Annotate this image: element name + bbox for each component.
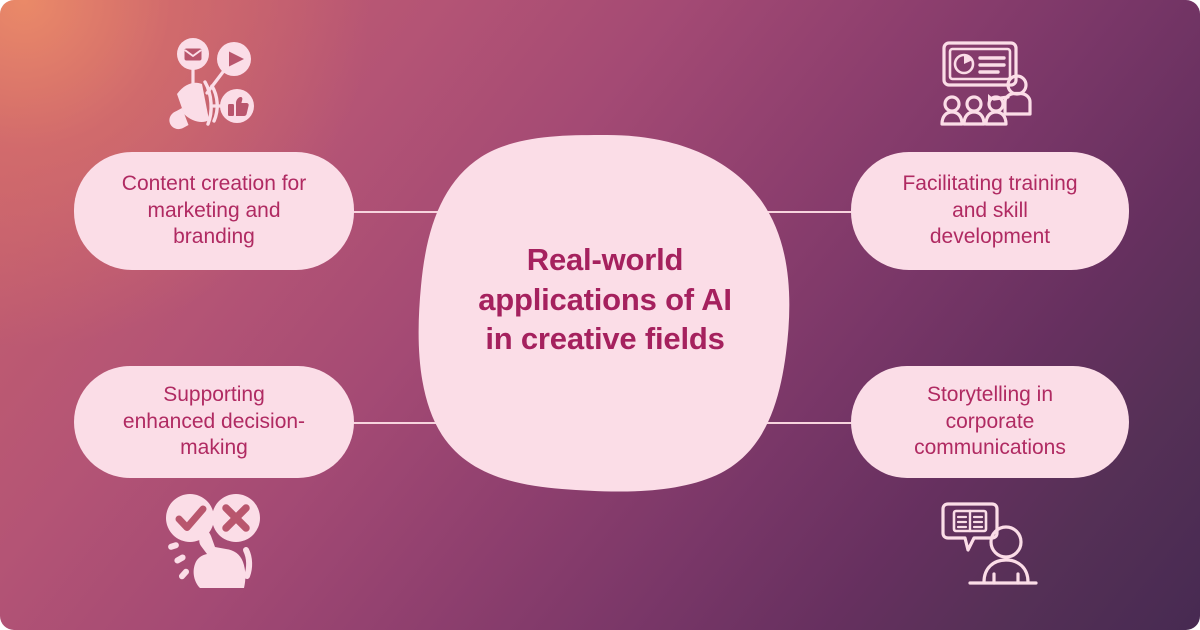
node-content-creation[interactable]: Content creation for marketing and brand… xyxy=(74,152,354,270)
node-training-development[interactable]: Facilitating training and skill developm… xyxy=(851,152,1129,270)
node-decision-making-label: Supporting enhanced decision- making xyxy=(123,382,305,461)
node-training-development-label: Facilitating training and skill developm… xyxy=(902,171,1077,250)
infographic-canvas: Real-world applications of AI in creativ… xyxy=(0,0,1200,630)
node-storytelling[interactable]: Storytelling in corporate communications xyxy=(851,366,1129,478)
node-content-creation-label: Content creation for marketing and brand… xyxy=(122,171,306,250)
page-title: Real-world applications of AI in creativ… xyxy=(430,240,780,359)
hand-choice-check-cross-icon xyxy=(158,492,262,590)
node-storytelling-label: Storytelling in corporate communications xyxy=(914,382,1066,461)
digital-marketing-megaphone-icon xyxy=(163,36,261,132)
person-speech-bubble-document-icon xyxy=(940,498,1038,590)
node-decision-making[interactable]: Supporting enhanced decision- making xyxy=(74,366,354,478)
training-presentation-board-icon xyxy=(938,36,1038,134)
